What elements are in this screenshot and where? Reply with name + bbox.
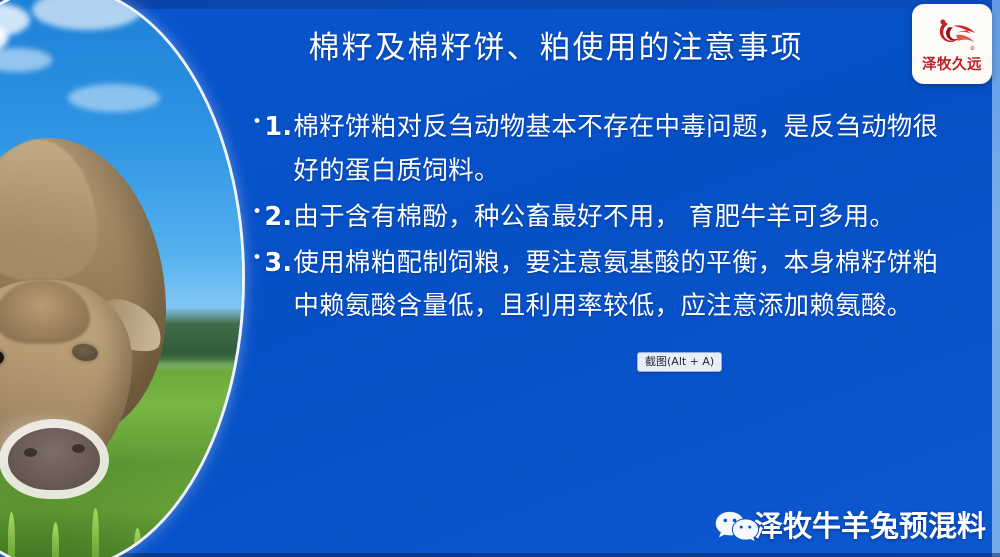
cow-muzzle	[8, 428, 100, 490]
grass-blade	[134, 528, 141, 557]
bullet-dot-icon: •	[252, 242, 262, 274]
logo-text: 泽牧久远	[922, 58, 982, 73]
cloud-icon	[0, 48, 52, 72]
wechat-watermark: 泽牧牛羊兔预混料	[714, 509, 986, 543]
grass-blade	[178, 516, 185, 557]
cow-nostril-right	[72, 444, 85, 453]
list-item: • 2. 由于含有棉酚，种公畜最好不用， 育肥牛羊可多用。	[252, 196, 952, 240]
svg-text:R: R	[972, 47, 974, 51]
slide-right-strip	[992, 0, 1000, 557]
grass-blade	[92, 508, 99, 557]
list-item: • 1. 棉籽饼粕对反刍动物基本不存在中毒问题，是反刍动物很好的蛋白质饲料。	[252, 106, 952, 194]
bullet-text: 由于含有棉酚，种公畜最好不用， 育肥牛羊可多用。	[293, 196, 952, 240]
cloud-icon	[32, 0, 142, 30]
bullet-dot-icon: •	[252, 106, 262, 138]
cloud-icon	[0, 2, 30, 38]
grass-blade	[52, 522, 59, 557]
flame-swirl-icon: R	[923, 17, 981, 55]
bullet-number: 3.	[264, 242, 292, 286]
cloud-icon	[68, 84, 160, 112]
bullet-dot-icon: •	[252, 196, 262, 228]
cow-nostril-left	[24, 448, 37, 457]
watermark-text: 泽牧牛羊兔预混料	[754, 512, 986, 541]
presentation-slide: R 泽牧久远 棉籽及棉籽饼、粕使用的注意事项 • 1. 棉籽饼粕对反刍动物基本不…	[0, 0, 1000, 557]
bullet-number: 1.	[264, 106, 292, 150]
screenshot-tooltip: 截图(Alt + A)	[637, 352, 722, 372]
wechat-icon	[714, 509, 760, 543]
bullet-text: 棉籽饼粕对反刍动物基本不存在中毒问题，是反刍动物很好的蛋白质饲料。	[293, 106, 952, 194]
cow-photo	[0, 0, 242, 557]
page-title: 棉籽及棉籽饼、粕使用的注意事项	[236, 22, 876, 67]
bullet-number: 2.	[264, 196, 292, 240]
grass-blade	[8, 512, 15, 557]
cow-photo-scene	[0, 0, 242, 557]
list-item: • 3. 使用棉粕配制饲粮，要注意氨基酸的平衡，本身棉籽饼粕中赖氨酸含量低，且利…	[252, 242, 952, 330]
bullet-text: 使用棉粕配制饲粮，要注意氨基酸的平衡，本身棉籽饼粕中赖氨酸含量低，且利用率较低，…	[293, 242, 952, 330]
brand-logo: R 泽牧久远	[912, 4, 992, 84]
bullet-list: • 1. 棉籽饼粕对反刍动物基本不存在中毒问题，是反刍动物很好的蛋白质饲料。 •…	[252, 106, 952, 331]
